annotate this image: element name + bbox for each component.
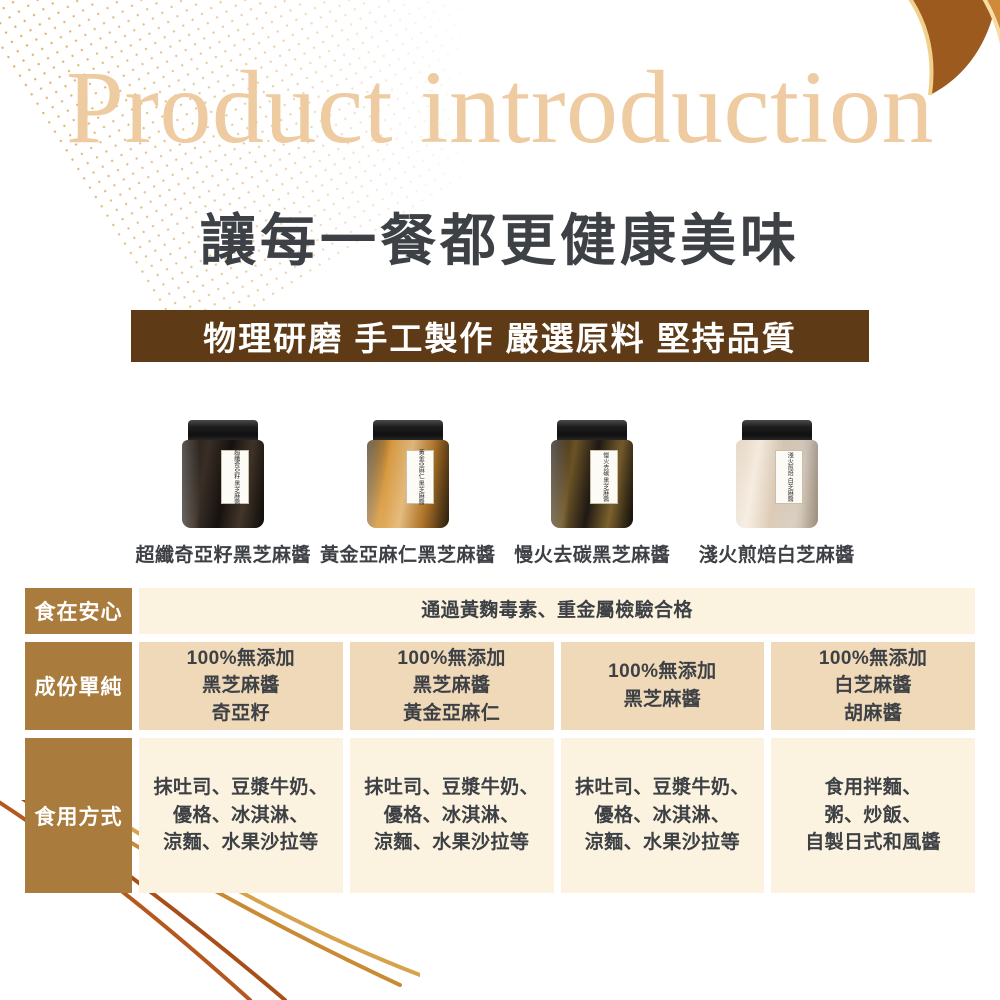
table-row-label: 食用方式	[25, 738, 132, 893]
table-row: 食在安心通過黃麴毒素、重金屬檢驗合格	[25, 588, 975, 634]
table-cell: 抹吐司、豆漿牛奶、優格、冰淇淋、涼麵、水果沙拉等	[350, 738, 554, 893]
page-headline: 讓每一餐都更健康美味	[0, 196, 1000, 277]
jar-front-label-text: 慢火去碳 黑芝麻醬	[601, 452, 608, 502]
jar-front-label-text: 淺火煎焙 白芝麻醬	[785, 452, 792, 502]
table-cell: 食用拌麵、粥、炒飯、自製日式和風醬	[771, 738, 975, 893]
table-cell: 100%無添加黑芝麻醬黃金亞麻仁	[350, 642, 554, 730]
jar-front-label-text: 黃金亞麻仁 黑芝麻醬	[416, 449, 423, 505]
product-jar-image: 慢火去碳 黑芝麻醬	[551, 420, 633, 528]
corner-dot-pattern-decoration	[0, 0, 544, 355]
product-item: 黃金亞麻仁 黑芝麻醬黃金亞麻仁黑芝麻醬	[316, 420, 501, 580]
page-headline-text: 讓每一餐都更健康美味	[200, 209, 800, 272]
jar-lid	[188, 420, 258, 442]
jar-front-label: 黃金亞麻仁 黑芝麻醬	[406, 450, 434, 504]
jar-lid	[557, 420, 627, 442]
product-name: 超纖奇亞籽黑芝麻醬	[135, 540, 311, 567]
table-row-label: 食在安心	[25, 588, 132, 634]
feature-banner: 物理研磨 手工製作 嚴選原料 堅持品質	[131, 310, 869, 362]
table-row: 食用方式抹吐司、豆漿牛奶、優格、冰淇淋、涼麵、水果沙拉等抹吐司、豆漿牛奶、優格、…	[25, 738, 975, 893]
background-title-text: Product introduction	[66, 56, 934, 160]
product-name: 淺火煎焙白芝麻醬	[699, 540, 855, 567]
product-item: 淺火煎焙 白芝麻醬淺火煎焙白芝麻醬	[685, 420, 870, 580]
product-jar-image: 黃金亞麻仁 黑芝麻醬	[367, 420, 449, 528]
jar-front-label-text: 超纖奇亞籽 黑芝麻醬	[232, 449, 239, 505]
table-row-cells: 100%無添加黑芝麻醬奇亞籽100%無添加黑芝麻醬黃金亞麻仁100%無添加黑芝麻…	[139, 642, 975, 730]
table-cell: 100%無添加黑芝麻醬	[561, 642, 765, 730]
product-name: 黃金亞麻仁黑芝麻醬	[320, 540, 496, 567]
product-item: 超纖奇亞籽 黑芝麻醬超纖奇亞籽黑芝麻醬	[131, 420, 316, 580]
jar-lid	[373, 420, 443, 442]
table-cell: 100%無添加黑芝麻醬奇亞籽	[139, 642, 343, 730]
jar-front-label: 慢火去碳 黑芝麻醬	[590, 450, 618, 504]
jar-front-label: 超纖奇亞籽 黑芝麻醬	[221, 450, 249, 504]
background-title: Product introduction	[0, 52, 1000, 164]
product-item: 慢火去碳 黑芝麻醬慢火去碳黑芝麻醬	[500, 420, 685, 580]
jar-front-label: 淺火煎焙 白芝麻醬	[775, 450, 803, 504]
corner-ribbon-decoration	[780, 0, 1000, 150]
product-list: 超纖奇亞籽 黑芝麻醬超纖奇亞籽黑芝麻醬黃金亞麻仁 黑芝麻醬黃金亞麻仁黑芝麻醬慢火…	[131, 420, 869, 580]
product-name: 慢火去碳黑芝麻醬	[514, 540, 670, 567]
table-row: 成份單純100%無添加黑芝麻醬奇亞籽100%無添加黑芝麻醬黃金亞麻仁100%無添…	[25, 642, 975, 730]
table-cell: 100%無添加白芝麻醬胡麻醬	[771, 642, 975, 730]
table-cell-merged: 通過黃麴毒素、重金屬檢驗合格	[139, 588, 975, 634]
table-cell: 抹吐司、豆漿牛奶、優格、冰淇淋、涼麵、水果沙拉等	[561, 738, 765, 893]
product-jar-image: 淺火煎焙 白芝麻醬	[736, 420, 818, 528]
table-row-cells: 抹吐司、豆漿牛奶、優格、冰淇淋、涼麵、水果沙拉等抹吐司、豆漿牛奶、優格、冰淇淋、…	[139, 738, 975, 893]
ribbon-svg	[780, 0, 1000, 150]
jar-lid	[742, 420, 812, 442]
table-cell: 抹吐司、豆漿牛奶、優格、冰淇淋、涼麵、水果沙拉等	[139, 738, 343, 893]
table-row-label: 成份單純	[25, 642, 132, 730]
table-row-cells: 通過黃麴毒素、重金屬檢驗合格	[139, 588, 975, 634]
product-jar-image: 超纖奇亞籽 黑芝麻醬	[182, 420, 264, 528]
comparison-table: 食在安心通過黃麴毒素、重金屬檢驗合格成份單純100%無添加黑芝麻醬奇亞籽100%…	[25, 588, 975, 901]
feature-banner-text: 物理研磨 手工製作 嚴選原料 堅持品質	[203, 312, 797, 360]
